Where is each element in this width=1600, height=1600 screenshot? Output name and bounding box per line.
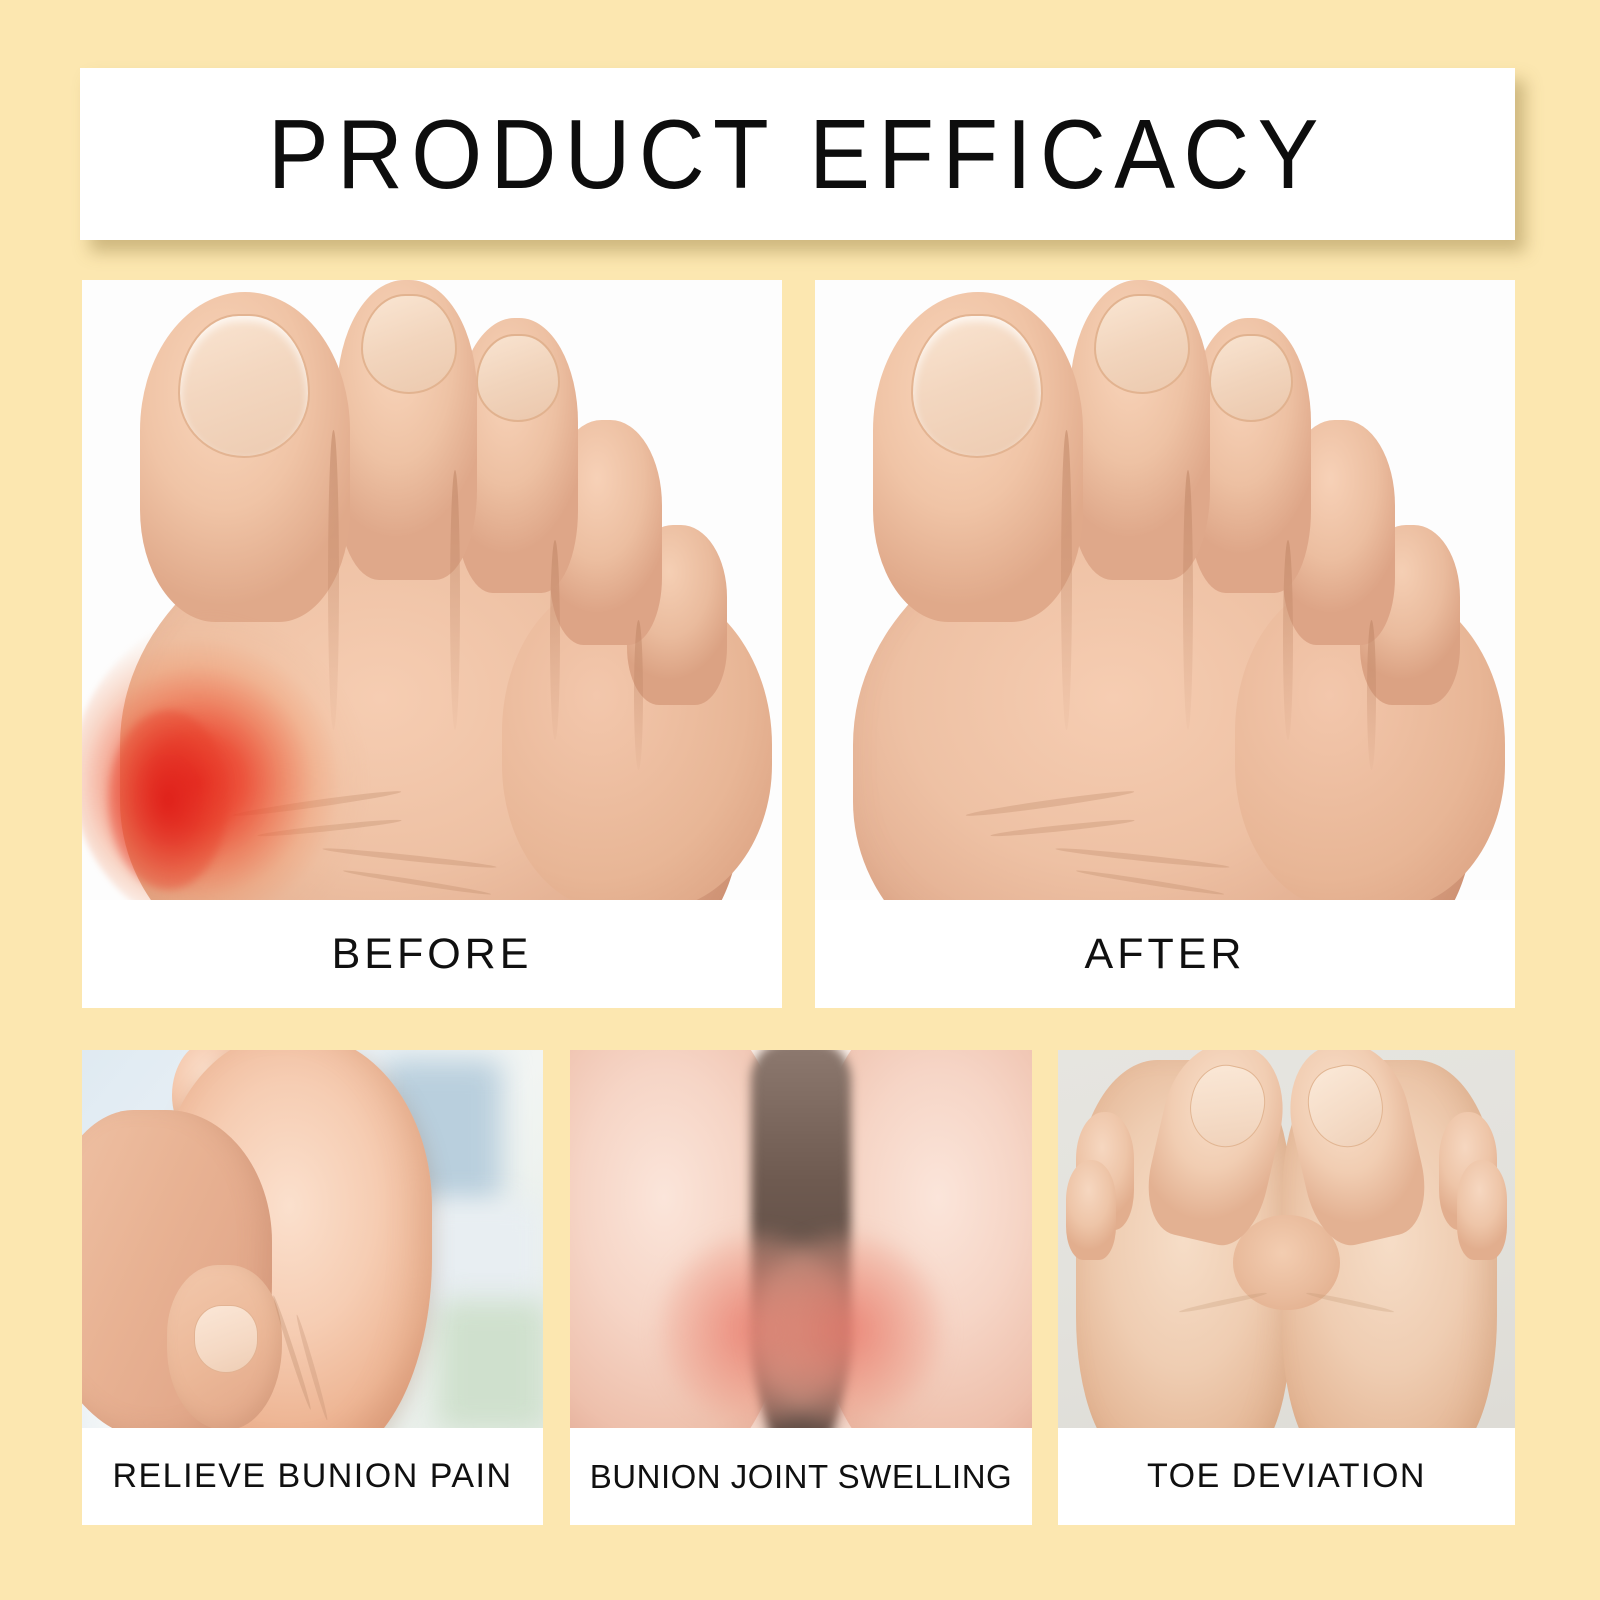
benefit-card-relieve-bunion-pain: RELIEVE BUNION PAIN xyxy=(82,1050,543,1525)
benefit-caption-bunion-joint-swelling: BUNION JOINT SWELLING xyxy=(570,1428,1032,1525)
foot-massage-illustration xyxy=(82,1050,543,1428)
before-card: BEFORE xyxy=(82,280,782,1008)
swollen-joints-illustration xyxy=(570,1050,1032,1428)
title-banner: PRODUCT EFFICACY xyxy=(80,68,1515,240)
page-title: PRODUCT EFFICACY xyxy=(268,105,1327,203)
toe-deviation-illustration xyxy=(1058,1050,1515,1428)
swelling-photo xyxy=(570,1050,1032,1428)
toe-deviation-photo xyxy=(1058,1050,1515,1428)
after-photo xyxy=(815,280,1515,900)
product-efficacy-poster: PRODUCT EFFICACY xyxy=(0,0,1600,1600)
before-caption: BEFORE xyxy=(82,900,782,1008)
after-caption: AFTER xyxy=(815,900,1515,1008)
benefit-caption-relieve-bunion-pain: RELIEVE BUNION PAIN xyxy=(82,1428,543,1525)
benefit-card-bunion-joint-swelling: BUNION JOINT SWELLING xyxy=(570,1050,1032,1525)
swelling-redness-right xyxy=(752,1235,942,1425)
healthy-foot-illustration xyxy=(815,280,1515,900)
benefit-caption-toe-deviation: TOE DEVIATION xyxy=(1058,1428,1515,1525)
before-photo xyxy=(82,280,782,900)
after-card: AFTER xyxy=(815,280,1515,1008)
bunion-foot-illustration xyxy=(82,280,782,900)
benefit-card-toe-deviation: TOE DEVIATION xyxy=(1058,1050,1515,1525)
inflammation-core xyxy=(108,710,228,890)
massage-photo xyxy=(82,1050,543,1428)
